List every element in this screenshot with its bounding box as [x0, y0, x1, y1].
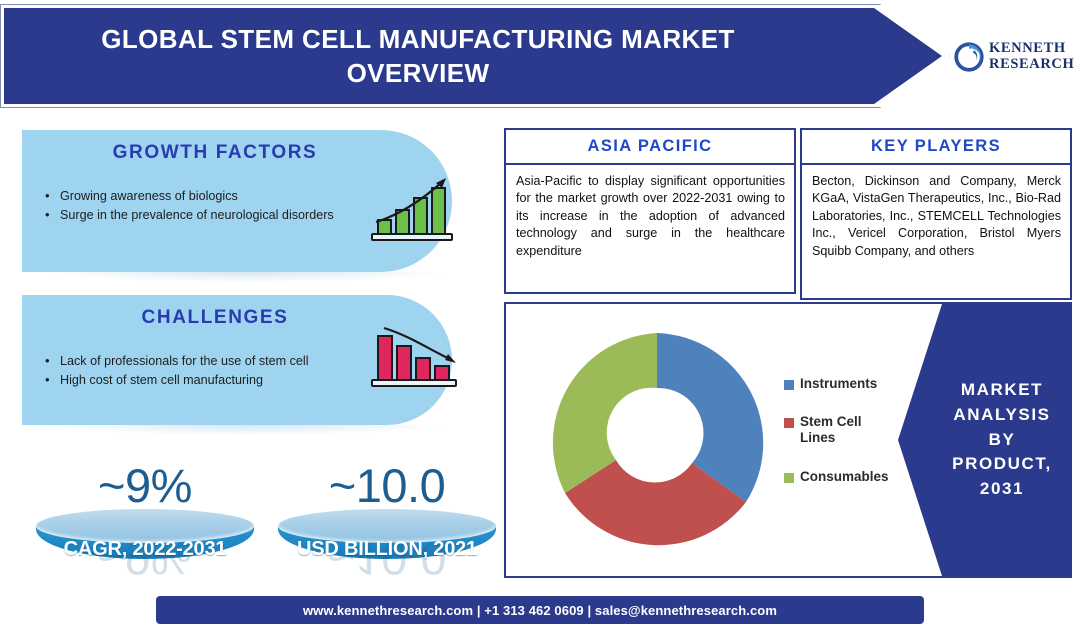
market-analysis-callout: MARKET ANALYSIS BY PRODUCT, 2031	[898, 304, 1070, 576]
swirl-circle-logo-icon	[954, 42, 984, 72]
header-banner: GLOBAL STEM CELL MANUFACTURING MARKET OV…	[4, 8, 942, 104]
infographic-page: GLOBAL STEM CELL MANUFACTURING MARKET OV…	[0, 0, 1080, 636]
cylinder-shape: ~10.0 USD BILLION, 2021	[278, 509, 496, 567]
donut-chart	[532, 318, 782, 568]
brand-logo[interactable]: KENNETH RESEARCH	[954, 30, 1078, 84]
growth-factors-title: GROWTH FACTORS	[0, 142, 430, 164]
legend-swatch-icon	[784, 473, 794, 483]
stat-value: ~10.0	[278, 462, 496, 509]
legend-label: Consumables	[800, 469, 889, 485]
stat-label: USD BILLION, 2021	[278, 538, 496, 561]
list-item: Surge in the prevalence of neurological …	[40, 207, 360, 225]
list-item: Lack of professionals for the use of ste…	[40, 353, 365, 371]
challenges-list: Lack of professionals for the use of ste…	[40, 353, 365, 391]
market-analysis-text: MARKET ANALYSIS BY PRODUCT, 2031	[942, 378, 1062, 502]
chart-legend: Instruments Stem Cell Lines Consumables	[784, 376, 914, 507]
key-players-panel: KEY PLAYERS Becton, Dickinson and Compan…	[800, 128, 1072, 300]
growth-panel-shadow	[52, 272, 442, 282]
ascending-bar-chart-icon	[368, 172, 460, 248]
asia-pacific-title: ASIA PACIFIC	[506, 130, 794, 165]
footer-contact-text: www.kennethresearch.com | +1 313 462 060…	[303, 603, 777, 618]
challenges-title: CHALLENGES	[0, 307, 430, 329]
logo-wordmark: KENNETH RESEARCH	[989, 41, 1074, 72]
stat-label: CAGR, 2022-2031	[36, 538, 254, 561]
legend-swatch-icon	[784, 418, 794, 428]
legend-label: Stem Cell Lines	[800, 414, 872, 446]
legend-label: Instruments	[800, 376, 877, 392]
challenges-panel-shadow	[52, 425, 442, 435]
legend-item: Consumables	[784, 469, 914, 485]
cylinder-shape: ~9% CAGR, 2022-2031	[36, 509, 254, 567]
legend-item: Instruments	[784, 376, 914, 392]
key-players-title: KEY PLAYERS	[802, 130, 1070, 165]
list-item: Growing awareness of biologics	[40, 188, 360, 206]
descending-bar-chart-icon	[368, 326, 460, 394]
growth-factors-list: Growing awareness of biologics Surge in …	[40, 188, 360, 226]
product-chart-panel: Instruments Stem Cell Lines Consumables …	[504, 302, 1072, 578]
asia-pacific-body: Asia-Pacific to display significant oppo…	[506, 165, 794, 268]
stat-cylinder-market-size: ~10.0 USD BILLION, 2021 ~10.0	[278, 462, 496, 567]
legend-swatch-icon	[784, 380, 794, 390]
page-title: GLOBAL STEM CELL MANUFACTURING MARKET OV…	[38, 22, 798, 91]
header: GLOBAL STEM CELL MANUFACTURING MARKET OV…	[0, 4, 1080, 108]
key-players-body: Becton, Dickinson and Company, Merck KGa…	[802, 165, 1070, 268]
legend-item: Stem Cell Lines	[784, 414, 914, 446]
stat-cylinder-cagr: ~9% CAGR, 2022-2031 ~9%	[36, 462, 254, 567]
list-item: High cost of stem cell manufacturing	[40, 372, 365, 390]
asia-pacific-panel: ASIA PACIFIC Asia-Pacific to display sig…	[504, 128, 796, 294]
logo-line-1: KENNETH	[989, 41, 1074, 57]
footer-bar: www.kennethresearch.com | +1 313 462 060…	[156, 596, 924, 624]
logo-line-2: RESEARCH	[989, 57, 1074, 73]
stat-value: ~9%	[36, 462, 254, 509]
